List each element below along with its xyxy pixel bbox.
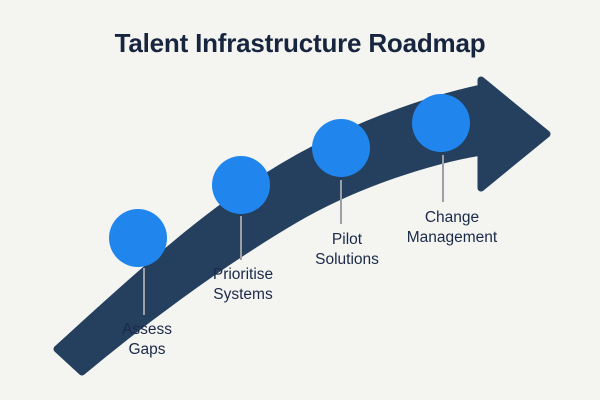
stage-label-2-line1: Prioritise xyxy=(213,265,273,285)
stage-label-4: Change Management xyxy=(407,208,497,249)
stage-label-2: Prioritise Systems xyxy=(213,265,273,306)
stage-label-4-line2: Management xyxy=(407,228,497,248)
stage-label-2-line2: Systems xyxy=(213,285,273,305)
stage-label-1-line1: Assess xyxy=(122,320,172,340)
roadmap-infographic: Talent Infrastructure Roadmap Assess Gap… xyxy=(0,0,600,400)
stage-node-1[interactable] xyxy=(109,209,167,267)
stage-label-4-line1: Change xyxy=(407,208,497,228)
stage-node-4[interactable] xyxy=(412,94,470,152)
stage-label-3-line1: Pilot xyxy=(315,230,379,250)
roadmap-arrow-graphic xyxy=(0,0,600,400)
stage-node-3[interactable] xyxy=(312,119,370,177)
stage-label-3: Pilot Solutions xyxy=(315,230,379,271)
stage-label-1-line2: Gaps xyxy=(122,340,172,360)
stage-label-1: Assess Gaps xyxy=(122,320,172,361)
stage-node-2[interactable] xyxy=(212,156,270,214)
stage-label-3-line2: Solutions xyxy=(315,250,379,270)
